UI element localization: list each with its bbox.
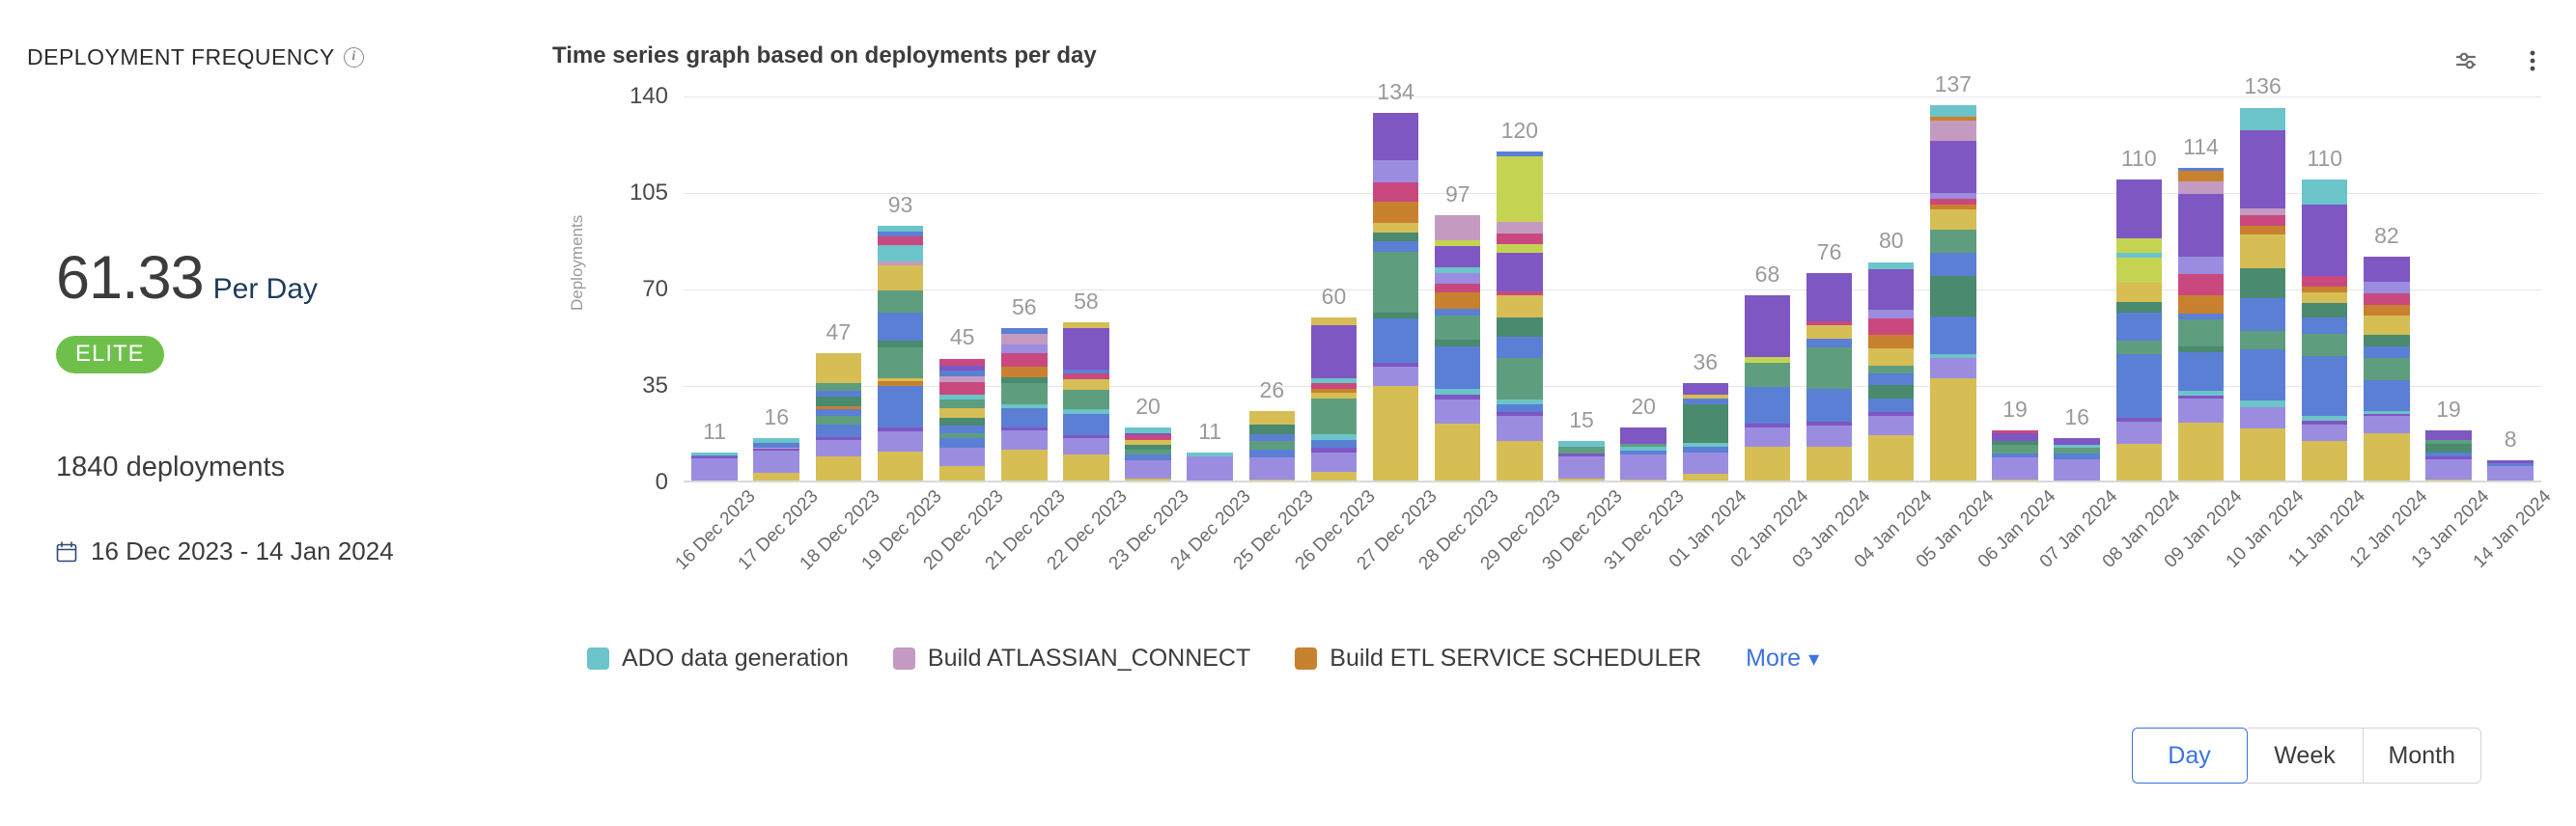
- bar-segment[interactable]: [2487, 466, 2533, 481]
- deployments-total: 1840 deployments: [56, 452, 285, 483]
- bar-segment[interactable]: [1373, 367, 1418, 386]
- bar-segment[interactable]: [1373, 233, 1418, 241]
- y-axis-ticks: 03570105140: [597, 96, 668, 502]
- bar-segment[interactable]: [1930, 378, 1975, 482]
- bar-segment[interactable]: [2425, 430, 2471, 440]
- bar-segment[interactable]: [1745, 427, 1790, 447]
- bar-segment[interactable]: [2178, 257, 2224, 275]
- bar-segment[interactable]: [2364, 305, 2409, 316]
- bar-segment[interactable]: [1249, 434, 1295, 441]
- bar-stack[interactable]: [2116, 179, 2162, 482]
- bar-segment[interactable]: [2178, 194, 2224, 257]
- bar-segment[interactable]: [816, 440, 861, 456]
- bar-segment[interactable]: [1249, 425, 1295, 434]
- bar-value-label: 11: [684, 419, 745, 445]
- page-title: DEPLOYMENT FREQUENCY: [27, 44, 335, 70]
- bar-segment[interactable]: [939, 438, 985, 448]
- bar-segment[interactable]: [1435, 273, 1480, 284]
- bar-stack[interactable]: [1683, 383, 1728, 482]
- bar-segment[interactable]: [1001, 450, 1047, 482]
- bar-stack[interactable]: [691, 453, 737, 482]
- bar-segment[interactable]: [1435, 399, 1480, 424]
- bar-segment[interactable]: [2116, 354, 2162, 418]
- bar-stack[interactable]: [1620, 427, 1666, 482]
- bar-slot: 36: [1674, 96, 1736, 482]
- bar-stack[interactable]: [2425, 430, 2471, 482]
- bar-segment[interactable]: [2364, 282, 2409, 294]
- bar-segment[interactable]: [1435, 424, 1480, 482]
- bar-segment[interactable]: [2302, 441, 2347, 482]
- bar-segment[interactable]: [2302, 317, 2347, 334]
- chart-title: Time series graph based on deployments p…: [552, 42, 1097, 69]
- bar-segment[interactable]: [1311, 453, 1357, 472]
- bar-segment[interactable]: [1806, 426, 1852, 446]
- bar-segment[interactable]: [1497, 234, 1542, 244]
- bar-segment[interactable]: [2178, 171, 2224, 181]
- bar-segment[interactable]: [939, 448, 985, 466]
- bar-segment[interactable]: [2178, 319, 2224, 346]
- bar-segment[interactable]: [1311, 317, 1357, 326]
- bar-segment[interactable]: [2116, 258, 2162, 283]
- bar-segment[interactable]: [1806, 447, 1852, 482]
- bar-segment[interactable]: [939, 382, 985, 395]
- bar-segment[interactable]: [1992, 433, 2037, 442]
- bar-segment[interactable]: [1435, 292, 1480, 309]
- bar-segment[interactable]: [1868, 318, 1914, 335]
- bar-slot: 110: [2108, 96, 2170, 482]
- bar-segment[interactable]: [816, 409, 861, 416]
- bar-segment[interactable]: [2178, 274, 2224, 295]
- bar-segment[interactable]: [1435, 309, 1480, 316]
- bar-stack[interactable]: [2364, 257, 2409, 482]
- bar-segment[interactable]: [2240, 130, 2285, 208]
- bar-segment[interactable]: [1001, 367, 1047, 377]
- info-icon[interactable]: i: [344, 47, 364, 68]
- bar-segment[interactable]: [1930, 230, 1975, 253]
- bar-stack[interactable]: [816, 353, 861, 482]
- bar-segment[interactable]: [2364, 257, 2409, 282]
- bar-segment[interactable]: [2240, 298, 2285, 331]
- bar-segment[interactable]: [1249, 441, 1295, 450]
- bar-segment[interactable]: [1868, 310, 1914, 318]
- bar-stack[interactable]: [753, 438, 798, 482]
- bar-segment[interactable]: [1373, 202, 1418, 224]
- bar-stack[interactable]: [1063, 322, 1108, 482]
- bar-slot: 26: [1241, 96, 1302, 482]
- bar-segment[interactable]: [939, 408, 985, 418]
- bar-segment[interactable]: [939, 426, 985, 432]
- bar-segment[interactable]: [691, 458, 737, 481]
- bar-segment[interactable]: [1373, 182, 1418, 202]
- bar-segment[interactable]: [1373, 318, 1418, 363]
- bar-segment[interactable]: [1001, 353, 1047, 367]
- granularity-option-day[interactable]: Day: [2132, 728, 2248, 784]
- bar-segment[interactable]: [1497, 222, 1542, 233]
- bar-stack[interactable]: [878, 226, 923, 482]
- bar-segment[interactable]: [753, 451, 798, 473]
- chart: Deployments 03570105140 1116479345565820…: [552, 96, 2541, 695]
- bar-segment[interactable]: [878, 452, 923, 482]
- bar-series: 1116479345565820112660134971201520366876…: [684, 96, 2541, 482]
- bar-value-label: 45: [932, 324, 994, 350]
- bar-segment[interactable]: [1497, 441, 1542, 482]
- bar-segment[interactable]: [1868, 416, 1914, 435]
- y-axis-tick: 70: [642, 276, 668, 303]
- bar-segment[interactable]: [1435, 246, 1480, 267]
- bar-value-label: 8: [2479, 427, 2541, 453]
- date-range-text: 16 Dec 2023 - 14 Jan 2024: [91, 537, 394, 566]
- bar-segment[interactable]: [1868, 399, 1914, 412]
- bar-segment[interactable]: [2364, 316, 2409, 335]
- legend-label: Build ETL SERVICE SCHEDULER: [1330, 645, 1701, 673]
- bar-segment[interactable]: [1868, 385, 1914, 399]
- bar-segment[interactable]: [1930, 121, 1975, 141]
- bar-segment[interactable]: [878, 313, 923, 341]
- bar-stack[interactable]: [2178, 168, 2224, 482]
- bar-segment[interactable]: [2302, 179, 2347, 205]
- bar-segment[interactable]: [878, 245, 923, 262]
- sliders-icon[interactable]: [2452, 46, 2481, 75]
- bar-segment[interactable]: [2116, 179, 2162, 238]
- bar-segment[interactable]: [1868, 348, 1914, 365]
- bar-slot: 76: [1799, 96, 1861, 482]
- bar-slot: 80: [1861, 96, 1922, 482]
- y-axis-label: Deployments: [568, 215, 587, 311]
- bar-value-label: 68: [1736, 262, 1798, 288]
- bar-stack[interactable]: [1806, 273, 1852, 482]
- bar-slot: 11: [1179, 96, 1241, 482]
- bar-segment[interactable]: [2302, 334, 2347, 356]
- bar-segment[interactable]: [1435, 284, 1480, 293]
- bar-segment[interactable]: [2364, 433, 2409, 482]
- bar-segment[interactable]: [816, 456, 861, 482]
- bar-value-label: 110: [2294, 146, 2356, 172]
- chevron-down-icon: ▾: [1808, 648, 1819, 670]
- bar-segment[interactable]: [2116, 341, 2162, 354]
- bar-segment[interactable]: [2364, 416, 2409, 432]
- bar-slot: 47: [807, 96, 869, 482]
- bar-segment[interactable]: [1497, 358, 1542, 399]
- bar-segment[interactable]: [2240, 407, 2285, 428]
- bar-segment[interactable]: [1497, 244, 1542, 253]
- legend-swatch: [893, 647, 915, 670]
- bar-segment[interactable]: [1249, 450, 1295, 458]
- bar-slot: 15: [1551, 96, 1612, 482]
- bar-value-label: 58: [1055, 289, 1117, 315]
- bar-stack[interactable]: [1249, 411, 1295, 482]
- granularity-option-month[interactable]: Month: [2364, 728, 2481, 784]
- bar-segment[interactable]: [2302, 425, 2347, 441]
- bar-segment[interactable]: [939, 359, 985, 366]
- date-range-row[interactable]: 16 Dec 2023 - 14 Jan 2024: [56, 537, 394, 566]
- legend-item[interactable]: Build ATLASSIAN_CONNECT: [893, 645, 1250, 673]
- bar-segment[interactable]: [1868, 335, 1914, 348]
- bar-segment[interactable]: [2240, 226, 2285, 234]
- status-badge: ELITE: [56, 336, 164, 373]
- bar-segment[interactable]: [1868, 366, 1914, 374]
- bar-value-label: 47: [807, 319, 869, 345]
- bar-segment[interactable]: [2364, 346, 2409, 359]
- bar-segment[interactable]: [2116, 283, 2162, 302]
- bar-segment[interactable]: [1558, 447, 1604, 454]
- bar-slot: 20: [1117, 96, 1179, 482]
- legend-item[interactable]: ADO data generation: [587, 645, 849, 673]
- bar-segment[interactable]: [2116, 238, 2162, 252]
- bar-segment[interactable]: [2240, 349, 2285, 400]
- bar-segment[interactable]: [939, 418, 985, 427]
- bar-stack[interactable]: [1497, 151, 1542, 482]
- bar-segment[interactable]: [2302, 303, 2347, 317]
- bar-segment[interactable]: [2302, 292, 2347, 303]
- bar-segment[interactable]: [878, 347, 923, 378]
- bar-value-label: 136: [2232, 73, 2294, 99]
- bar-segment[interactable]: [2302, 356, 2347, 417]
- bar-segment[interactable]: [1868, 373, 1914, 384]
- bar-value-label: 16: [2046, 404, 2108, 430]
- bar-value-label: 15: [1551, 407, 1612, 433]
- header-actions: [2452, 46, 2547, 75]
- bar-segment[interactable]: [1311, 399, 1357, 434]
- bar-segment[interactable]: [1497, 253, 1542, 291]
- bar-segment[interactable]: [1930, 317, 1975, 354]
- bar-segment[interactable]: [2178, 352, 2224, 391]
- bar-value-label: 20: [1612, 394, 1674, 420]
- bar-segment[interactable]: [939, 399, 985, 408]
- bar-segment[interactable]: [2302, 276, 2347, 287]
- legend-swatch: [1295, 647, 1317, 670]
- y-axis-tick: 105: [630, 179, 668, 206]
- bar-segment[interactable]: [2240, 331, 2285, 349]
- bar-segment[interactable]: [1001, 383, 1047, 403]
- bar-segment[interactable]: [1249, 457, 1295, 480]
- bar-segment[interactable]: [1930, 105, 1975, 117]
- bar-segment[interactable]: [1125, 460, 1170, 479]
- bar-segment[interactable]: [2178, 423, 2224, 482]
- bar-segment[interactable]: [878, 341, 923, 347]
- bar-stack[interactable]: [1868, 262, 1914, 483]
- bar-segment[interactable]: [1930, 358, 1975, 378]
- bar-segment[interactable]: [1435, 316, 1480, 340]
- bar-segment[interactable]: [1745, 387, 1790, 423]
- bar-segment[interactable]: [878, 431, 923, 453]
- bar-stack[interactable]: [1930, 105, 1975, 482]
- bar-stack[interactable]: [1992, 430, 2037, 482]
- bar-segment[interactable]: [878, 386, 923, 427]
- bar-segment[interactable]: [1558, 456, 1604, 479]
- bar-segment[interactable]: [1683, 453, 1728, 475]
- bar-segment[interactable]: [1497, 295, 1542, 317]
- bar-segment[interactable]: [1745, 363, 1790, 388]
- legend-more-button[interactable]: More▾: [1746, 645, 1819, 673]
- bar-segment[interactable]: [2240, 234, 2285, 267]
- bar-segment[interactable]: [1311, 440, 1357, 449]
- bar-segment[interactable]: [1930, 276, 1975, 317]
- bar-segment[interactable]: [1187, 456, 1232, 482]
- bar-segment[interactable]: [1063, 390, 1108, 409]
- bar-segment[interactable]: [816, 416, 861, 425]
- bar-value-label: 16: [745, 404, 807, 430]
- bar-slot: 56: [994, 96, 1055, 482]
- bar-segment[interactable]: [1373, 223, 1418, 233]
- bar-segment[interactable]: [1373, 113, 1418, 160]
- bar-segment[interactable]: [878, 290, 923, 313]
- legend-label: Build ATLASSIAN_CONNECT: [928, 645, 1250, 673]
- bar-segment[interactable]: [1806, 273, 1852, 321]
- bar-segment[interactable]: [2364, 335, 2409, 345]
- legend-label: ADO data generation: [622, 645, 849, 673]
- bar-segment[interactable]: [2364, 380, 2409, 410]
- bar-segment[interactable]: [1435, 215, 1480, 240]
- bar-segment[interactable]: [2240, 428, 2285, 482]
- bar-slot: 19: [1984, 96, 2046, 482]
- bar-segment[interactable]: [1806, 389, 1852, 422]
- bar-segment[interactable]: [1806, 347, 1852, 389]
- bar-segment[interactable]: [1620, 454, 1666, 480]
- bar-segment[interactable]: [2240, 108, 2285, 131]
- bar-segment[interactable]: [1435, 346, 1480, 389]
- bar-segment[interactable]: [1806, 325, 1852, 339]
- bar-slot: 19: [2418, 96, 2479, 482]
- bar-stack[interactable]: [1745, 295, 1790, 482]
- bar-segment[interactable]: [2425, 444, 2471, 453]
- bar-segment[interactable]: [1868, 269, 1914, 311]
- bar-slot: 45: [932, 96, 994, 482]
- bar-segment[interactable]: [2178, 399, 2224, 423]
- bar-slot: 58: [1055, 96, 1117, 482]
- bar-value-label: 76: [1799, 239, 1861, 265]
- bar-stack[interactable]: [1435, 215, 1480, 482]
- bar-segment[interactable]: [1001, 344, 1047, 353]
- bar-segment[interactable]: [1001, 430, 1047, 450]
- bar-value-label: 97: [1427, 181, 1489, 207]
- bar-segment[interactable]: [2116, 327, 2162, 341]
- bar-segment[interactable]: [1063, 379, 1108, 390]
- bar-value-label: 82: [2356, 223, 2418, 249]
- bar-segment[interactable]: [2116, 302, 2162, 313]
- bar-segment[interactable]: [878, 265, 923, 290]
- bar-segment[interactable]: [2178, 295, 2224, 314]
- bar-segment[interactable]: [1435, 340, 1480, 346]
- bar-segment[interactable]: [1497, 337, 1542, 359]
- bar-stack[interactable]: [2240, 108, 2285, 482]
- bar-segment[interactable]: [1497, 317, 1542, 337]
- y-axis-tick: 35: [642, 372, 668, 399]
- bar-slot: 60: [1302, 96, 1364, 482]
- bar-stack[interactable]: [939, 359, 985, 482]
- metric-value: 61.33: [56, 243, 204, 313]
- bar-segment[interactable]: [2425, 459, 2471, 480]
- bar-segment[interactable]: [1063, 414, 1108, 436]
- bar-segment[interactable]: [816, 353, 861, 383]
- bar-segment[interactable]: [1063, 454, 1108, 482]
- metric-unit: Per Day: [213, 273, 318, 306]
- granularity-option-week[interactable]: Week: [2248, 728, 2364, 784]
- bar-segment[interactable]: [1683, 404, 1728, 443]
- bar-value-label: 36: [1674, 349, 1736, 375]
- bar-value-label: 110: [2108, 146, 2170, 172]
- bar-stack[interactable]: [1311, 317, 1357, 482]
- bar-value-label: 20: [1117, 394, 1179, 420]
- bar-segment[interactable]: [1620, 427, 1666, 444]
- bar-segment[interactable]: [1806, 339, 1852, 347]
- bar-stack[interactable]: [1125, 427, 1170, 482]
- bar-segment[interactable]: [2302, 205, 2347, 276]
- bar-segment[interactable]: [1373, 386, 1418, 482]
- bar-value-label: 80: [1861, 228, 1922, 254]
- bar-segment[interactable]: [878, 236, 923, 245]
- bar-segment[interactable]: [1063, 438, 1108, 454]
- bar-segment[interactable]: [2054, 459, 2099, 482]
- bar-segment[interactable]: [1249, 411, 1295, 425]
- bar-stack[interactable]: [2302, 179, 2347, 482]
- bar-stack[interactable]: [1187, 453, 1232, 482]
- bar-segment[interactable]: [1373, 241, 1418, 252]
- bar-segment[interactable]: [2116, 444, 2162, 482]
- bar-segment[interactable]: [2054, 438, 2099, 445]
- y-axis-tick: 0: [656, 469, 668, 496]
- bar-segment[interactable]: [1745, 295, 1790, 357]
- bar-segment[interactable]: [1497, 416, 1542, 441]
- bar-segment[interactable]: [2116, 422, 2162, 444]
- bar-segment[interactable]: [1930, 253, 1975, 276]
- bar-slot: 120: [1489, 96, 1551, 482]
- bar-segment[interactable]: [1497, 156, 1542, 223]
- bar-segment[interactable]: [816, 397, 861, 406]
- bar-slot: 16: [2046, 96, 2108, 482]
- bar-segment[interactable]: [1992, 457, 2037, 480]
- bar-segment[interactable]: [1930, 141, 1975, 193]
- bar-segment[interactable]: [1311, 325, 1357, 377]
- chart-legend: ADO data generationBuild ATLASSIAN_CONNE…: [587, 645, 1819, 673]
- bar-segment[interactable]: [1497, 404, 1542, 413]
- bar-segment[interactable]: [1868, 435, 1914, 482]
- bar-segment[interactable]: [2240, 268, 2285, 298]
- bar-segment[interactable]: [2178, 181, 2224, 193]
- bar-segment[interactable]: [2240, 215, 2285, 226]
- bar-segment[interactable]: [1001, 408, 1047, 427]
- kebab-menu-icon[interactable]: [2518, 46, 2547, 75]
- bar-segment[interactable]: [1373, 252, 1418, 313]
- bar-stack[interactable]: [1373, 113, 1418, 482]
- bar-value-label: 60: [1302, 284, 1364, 310]
- bar-stack[interactable]: [2487, 460, 2533, 482]
- bar-value-label: 120: [1489, 118, 1551, 144]
- metric-summary: DEPLOYMENT FREQUENCY i 61.33 Per Day ELI…: [27, 0, 529, 826]
- bar-segment[interactable]: [2364, 358, 2409, 380]
- legend-item[interactable]: Build ETL SERVICE SCHEDULER: [1295, 645, 1701, 673]
- bar-stack[interactable]: [2054, 438, 2099, 482]
- bar-value-label: 19: [2418, 397, 2479, 423]
- bar-segment[interactable]: [2116, 313, 2162, 326]
- bar-slot: 16: [745, 96, 807, 482]
- bar-segment[interactable]: [816, 383, 861, 392]
- bar-segment[interactable]: [1992, 445, 2037, 454]
- bar-segment[interactable]: [1745, 447, 1790, 482]
- x-axis-labels: 16 Dec 202317 Dec 202318 Dec 202319 Dec …: [684, 486, 2541, 660]
- bar-stack[interactable]: [1558, 441, 1604, 482]
- bar-slot: 8: [2479, 96, 2541, 482]
- bar-segment[interactable]: [1868, 262, 1914, 269]
- bar-segment[interactable]: [1063, 328, 1108, 370]
- bar-segment[interactable]: [816, 425, 861, 437]
- bar-stack[interactable]: [1001, 328, 1047, 482]
- bar-segment[interactable]: [1930, 209, 1975, 230]
- bar-segment[interactable]: [1683, 383, 1728, 394]
- bar-segment[interactable]: [1373, 160, 1418, 182]
- deployment-frequency-panel: DEPLOYMENT FREQUENCY i 61.33 Per Day ELI…: [0, 0, 2576, 826]
- bar-segment[interactable]: [1001, 334, 1047, 344]
- bar-segment[interactable]: [2364, 293, 2409, 304]
